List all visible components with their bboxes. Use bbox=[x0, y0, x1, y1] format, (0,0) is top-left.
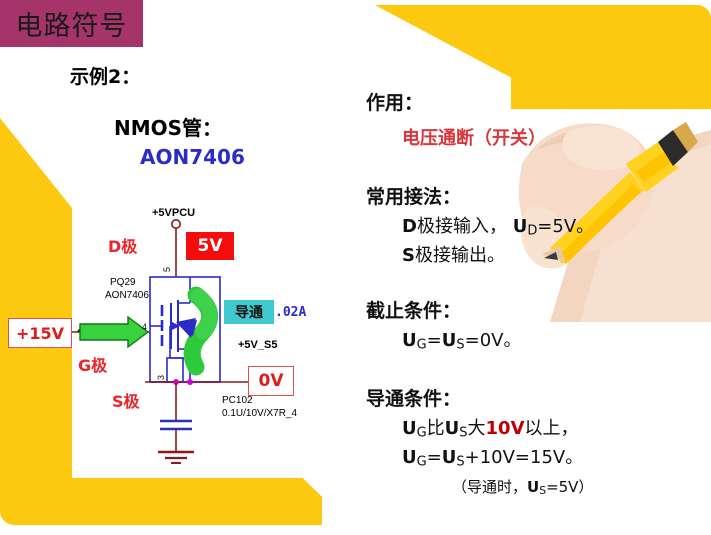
yellow-bottom-bar bbox=[0, 478, 322, 525]
page-title: 电路符号 bbox=[16, 4, 128, 43]
example-label: 示例2： bbox=[70, 62, 140, 89]
svg-text:3: 3 bbox=[156, 375, 166, 380]
component-type-label: NMOS管： bbox=[114, 112, 222, 141]
s-pole-label: S极 bbox=[112, 388, 140, 412]
conduction-line-2: UG=US+10V=15V。 bbox=[402, 443, 583, 469]
cutoff-line-1: UG=US=0V。 bbox=[402, 326, 521, 352]
section-heading-wiring: 常用接法： bbox=[366, 182, 461, 209]
slide-root: 电路符号 示例2： NMOS管： AON7406 bbox=[0, 0, 711, 535]
input-voltage-box: +15V bbox=[8, 318, 72, 348]
slide-title-band: 电路符号 bbox=[0, 0, 143, 47]
section-heading-purpose: 作用： bbox=[366, 88, 423, 115]
conduction-line-1: UG比US大10V以上， bbox=[402, 414, 579, 440]
purpose-value: 电压通断（开关） bbox=[402, 124, 546, 150]
current-reading: .02A bbox=[275, 305, 306, 320]
section-heading-conduction: 导通条件： bbox=[366, 384, 461, 411]
mosfet-refdes: PQ29 bbox=[110, 277, 136, 289]
output-net-label: +5V_S5 bbox=[238, 339, 277, 351]
drain-voltage-box: 5V bbox=[186, 232, 234, 260]
cap-value: 0.1U/10V/X7R_4 bbox=[222, 408, 297, 420]
wiring-line-1: D极接输入， UD=5V。 bbox=[402, 212, 594, 238]
conduction-state-badge: 导通 bbox=[224, 300, 274, 324]
hand-with-pencil-photo bbox=[430, 72, 711, 322]
wiring-line-2: S极接输出。 bbox=[402, 241, 505, 267]
mosfet-partnumber: AON7406 bbox=[105, 290, 149, 302]
part-number-label: AON7406 bbox=[140, 145, 245, 169]
cap-refdes: PC102 bbox=[222, 395, 253, 407]
source-voltage-box: 0V bbox=[248, 366, 294, 396]
d-pole-label: D极 bbox=[108, 233, 137, 257]
supply-net-label: +5VPCU bbox=[152, 207, 195, 219]
conduction-line-3: （导通时，US=5V） bbox=[452, 476, 593, 497]
g-pole-label: G极 bbox=[78, 352, 107, 376]
section-heading-cutoff: 截止条件： bbox=[366, 296, 461, 323]
svg-text:4: 4 bbox=[142, 322, 147, 332]
svg-text:5: 5 bbox=[162, 267, 172, 272]
yellow-left-wedge bbox=[0, 118, 72, 493]
